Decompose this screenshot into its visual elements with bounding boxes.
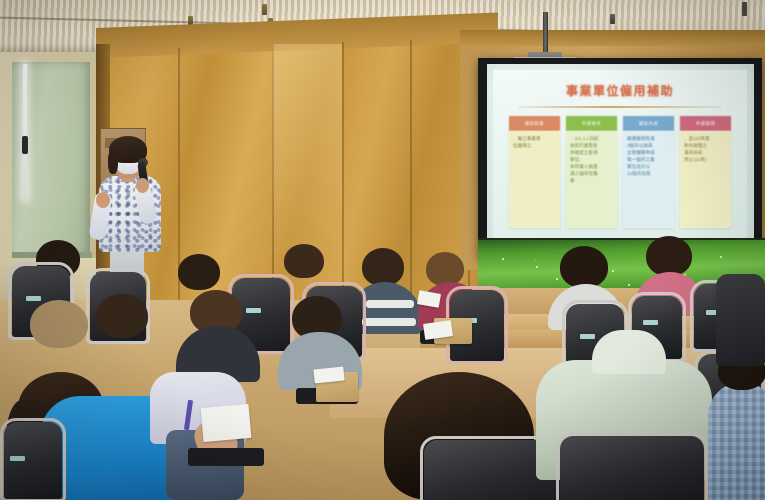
shirt-stripe	[366, 300, 414, 308]
slide-column-header: 申請期間	[680, 116, 731, 131]
wood-panel-highlight	[272, 44, 342, 254]
attendee-body	[708, 382, 765, 500]
slide-body-line: 停止111年)	[684, 156, 728, 163]
slide-body-line: ．111.1.1日起	[570, 135, 614, 142]
slide-body-line: 單位．	[570, 156, 614, 163]
seat[interactable]	[716, 274, 765, 366]
slide-body-line: 主管機關申請	[627, 149, 671, 156]
slide-body-line: 位僱用之	[513, 142, 557, 149]
slide-divider-rule	[518, 106, 722, 108]
presenter-hand-left	[96, 192, 110, 208]
slide-body-line: 滿月份前	[684, 149, 728, 156]
ceiling-fixture	[742, 2, 747, 16]
attendee-head	[426, 252, 464, 286]
wood-panel-seam	[178, 48, 180, 330]
slide-column-header: 補助內容	[623, 116, 674, 131]
seat[interactable]	[556, 432, 708, 500]
slide-body-line: 依照行業暨各	[570, 142, 614, 149]
shirt-stripe	[362, 318, 416, 326]
projected-slide: 事業單位僱用補助 補助對象 ．僱之事業單 位僱用之 申請條件 ．111.1.1日…	[493, 70, 747, 244]
slide-body-line: 3個月以後再	[627, 142, 671, 149]
blind-pull-handle	[22, 136, 28, 154]
attendee-head	[30, 300, 88, 348]
slide-column-header-text: 申請期間	[696, 121, 716, 127]
slide-column: 補助內容 繼續僱用性滿 3個月以後再 主管機關申請 每一個月之業 單位合計以 1…	[623, 116, 674, 228]
notepaper	[201, 404, 252, 442]
slide-body-line: 者	[570, 177, 614, 184]
slide-column-header: 補助對象	[509, 116, 560, 131]
seat-number-tag	[26, 296, 41, 301]
presenter-hand-right	[136, 178, 149, 193]
seat[interactable]	[0, 418, 66, 500]
window-light-strip	[23, 64, 27, 199]
attendee-head	[362, 248, 404, 286]
wood-panel-seam	[410, 40, 412, 330]
slide-column: 申請期間 ．自110年度 年內受理之 滿月份前 停止111年)	[680, 116, 731, 228]
slide-column: 補助對象 ．僱之事業單 位僱用之	[509, 116, 560, 228]
slide-title: 事業單位僱用補助	[493, 82, 747, 99]
attendee-head	[560, 246, 608, 288]
slide-column-header-text: 補助對象	[525, 121, 545, 127]
seat-number-tag	[643, 320, 658, 325]
slide-column-header: 申請條件	[566, 116, 617, 131]
seat-number-tag	[246, 308, 261, 313]
slide-column-body: ．自110年度 年內受理之 滿月份前 停止111年)	[680, 131, 731, 228]
slide-body-line: ．僱之事業單	[513, 135, 557, 142]
attendee-collar	[592, 330, 666, 374]
slide-body-line: 12個月為限	[627, 170, 671, 177]
slide-body-line: 繼續僱用性滿	[627, 135, 671, 142]
slide-body-line: 單位合計以	[627, 163, 671, 170]
slide-body-line: 年內受理之	[684, 142, 728, 149]
slide-columns: 補助對象 ．僱之事業單 位僱用之 申請條件 ．111.1.1日起 依照行業暨各 …	[509, 116, 731, 228]
attendee-head	[284, 244, 324, 278]
attendee-head	[178, 254, 220, 290]
seat-number-tag	[10, 456, 25, 461]
slide-body-line: ．自110年度	[684, 135, 728, 142]
auditorium-photo: 事業單位僱用補助 補助對象 ．僱之事業單 位僱用之 申請條件 ．111.1.1日…	[0, 0, 765, 500]
projector-mount-pole	[543, 12, 548, 54]
attendee-head	[96, 294, 148, 338]
slide-body-line: 滿三個月在職	[570, 170, 614, 177]
slide-column: 申請條件 ．111.1.1日起 依照行業暨各 作規定之各項 單位． 本所業人員連…	[566, 116, 617, 228]
slide-column-body: 繼續僱用性滿 3個月以後再 主管機關申請 每一個月之業 單位合計以 12個月為限	[623, 131, 674, 228]
ceiling-fixture	[262, 4, 267, 15]
slide-body-line: 作規定之各項	[570, 149, 614, 156]
slide-column-header-text: 申請條件	[582, 121, 602, 127]
slide-column-body: ．111.1.1日起 依照行業暨各 作規定之各項 單位． 本所業人員連 滿三個月…	[566, 131, 617, 228]
slide-column-header-text: 補助內容	[639, 121, 659, 127]
writing-tablet-arm	[188, 448, 264, 466]
right-wall-trim	[460, 30, 765, 46]
seat-number-tag	[580, 334, 595, 339]
slide-body-line: 每一個月之業	[627, 156, 671, 163]
ceiling-fixture	[610, 14, 615, 24]
slide-body-line: 本所業人員連	[570, 163, 614, 170]
slide-column-body: ．僱之事業單 位僱用之	[509, 131, 560, 228]
attendee-head	[646, 236, 692, 276]
presenter-hair-side	[108, 150, 118, 174]
